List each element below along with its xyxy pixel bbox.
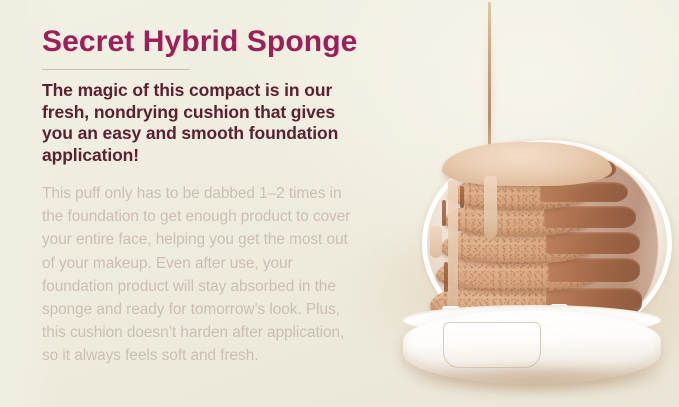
compact-base-latch bbox=[443, 322, 541, 368]
copy-block: Secret Hybrid Sponge The magic of this c… bbox=[42, 24, 372, 368]
page-title: Secret Hybrid Sponge bbox=[42, 24, 372, 60]
foundation-drip-shadow bbox=[460, 186, 464, 208]
foundation-drip bbox=[448, 180, 458, 312]
foundation-drip bbox=[484, 176, 497, 238]
title-divider bbox=[42, 69, 190, 70]
sponge-cut-face bbox=[546, 232, 640, 254]
compact-drop-shadow bbox=[412, 366, 662, 392]
foundation-drip bbox=[430, 226, 442, 258]
sponge-cut-face bbox=[544, 206, 636, 228]
sponge-cut-face bbox=[548, 258, 640, 282]
product-banner: Secret Hybrid Sponge The magic of this c… bbox=[0, 0, 679, 407]
foundation-drip-shadow bbox=[442, 200, 446, 226]
subtitle-text: The magic of this compact is in our fres… bbox=[42, 80, 352, 166]
foundation-stream bbox=[488, 2, 491, 152]
foundation-spill bbox=[442, 142, 612, 186]
body-text: This puff only has to be dabbed 1–2 time… bbox=[42, 182, 354, 368]
product-photo bbox=[398, 0, 679, 407]
foundation-drip-shadow bbox=[444, 262, 448, 292]
